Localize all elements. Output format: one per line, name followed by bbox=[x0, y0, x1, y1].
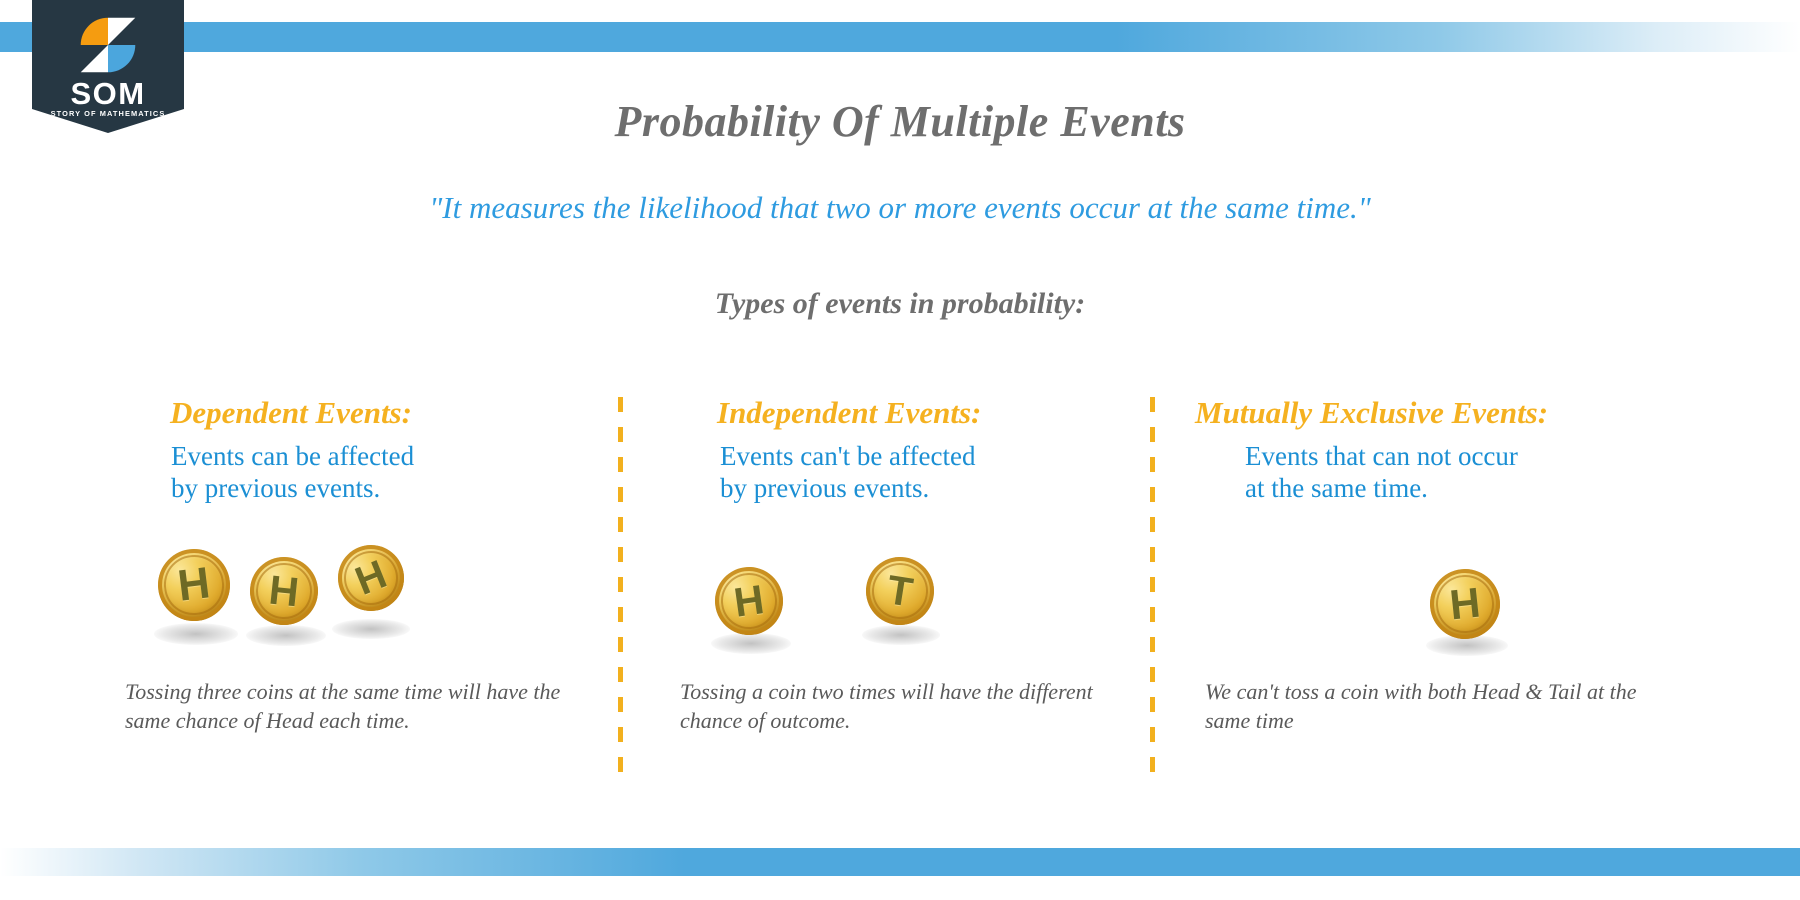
definition-quote: "It measures the likelihood that two or … bbox=[0, 190, 1800, 226]
coin-face: H bbox=[328, 535, 414, 621]
coin-letter: T bbox=[884, 569, 915, 613]
coin-face: T bbox=[861, 552, 939, 630]
coin-face: H bbox=[1427, 566, 1504, 643]
column-caption: Tossing a coin two times will have the d… bbox=[680, 677, 1110, 735]
column-body-line-2: by previous events. bbox=[720, 473, 1150, 505]
coin-letter: H bbox=[267, 569, 301, 613]
column-body-line-2: by previous events. bbox=[171, 473, 620, 505]
brand-banner: SOM STORY OF MATHEMATICS bbox=[32, 0, 184, 133]
coin-letter: H bbox=[1448, 582, 1483, 627]
coin-2: H bbox=[247, 554, 322, 629]
column-body-line-1: Events can't be affected bbox=[720, 441, 1150, 473]
coin-letter: H bbox=[350, 554, 392, 602]
column-independent-events: Independent Events: Events can't be affe… bbox=[650, 395, 1150, 504]
column-body: Events can be affected by previous event… bbox=[120, 441, 620, 505]
column-heading: Mutually Exclusive Events: bbox=[1180, 395, 1720, 431]
column-body-line-1: Events can be affected bbox=[171, 441, 620, 473]
coin-face: H bbox=[711, 563, 788, 640]
column-heading: Independent Events: bbox=[650, 395, 1150, 431]
coin-letter: H bbox=[176, 561, 213, 609]
column-body-line-2: at the same time. bbox=[1245, 473, 1720, 505]
coin-group: H bbox=[1180, 545, 1720, 655]
som-logo-icon bbox=[77, 14, 139, 76]
coin-shadow bbox=[332, 619, 410, 639]
coin-letter: H bbox=[731, 579, 766, 624]
coin-1: H bbox=[154, 545, 234, 625]
column-caption: Tossing three coins at the same time wil… bbox=[125, 677, 575, 735]
top-accent-bar bbox=[0, 22, 1800, 52]
coin-face: H bbox=[154, 545, 234, 625]
column-divider-2 bbox=[1150, 397, 1155, 787]
column-dependent-events: Dependent Events: Events can be affected… bbox=[120, 395, 620, 504]
coin-3: H bbox=[328, 535, 414, 621]
column-body-line-1: Events that can not occur bbox=[1245, 441, 1720, 473]
column-heading: Dependent Events: bbox=[120, 395, 620, 431]
column-caption: We can't toss a coin with both Head & Ta… bbox=[1205, 677, 1655, 735]
section-label: Types of events in probability: bbox=[0, 287, 1800, 321]
coin-shadow bbox=[154, 623, 238, 645]
coin-2: T bbox=[861, 552, 939, 630]
brand-wordmark: SOM bbox=[32, 78, 184, 109]
coin-face: H bbox=[247, 554, 322, 629]
coin-group: H H H bbox=[120, 545, 620, 655]
coin-1: H bbox=[711, 563, 788, 640]
column-mutually-exclusive-events: Mutually Exclusive Events: Events that c… bbox=[1180, 395, 1720, 504]
coin-1: H bbox=[1427, 566, 1504, 643]
bottom-accent-bar bbox=[0, 848, 1800, 876]
column-body: Events that can not occur at the same ti… bbox=[1180, 441, 1720, 505]
coin-group: H T bbox=[650, 545, 1150, 655]
page-title: Probability Of Multiple Events bbox=[0, 96, 1800, 147]
column-body: Events can't be affected by previous eve… bbox=[650, 441, 1150, 505]
